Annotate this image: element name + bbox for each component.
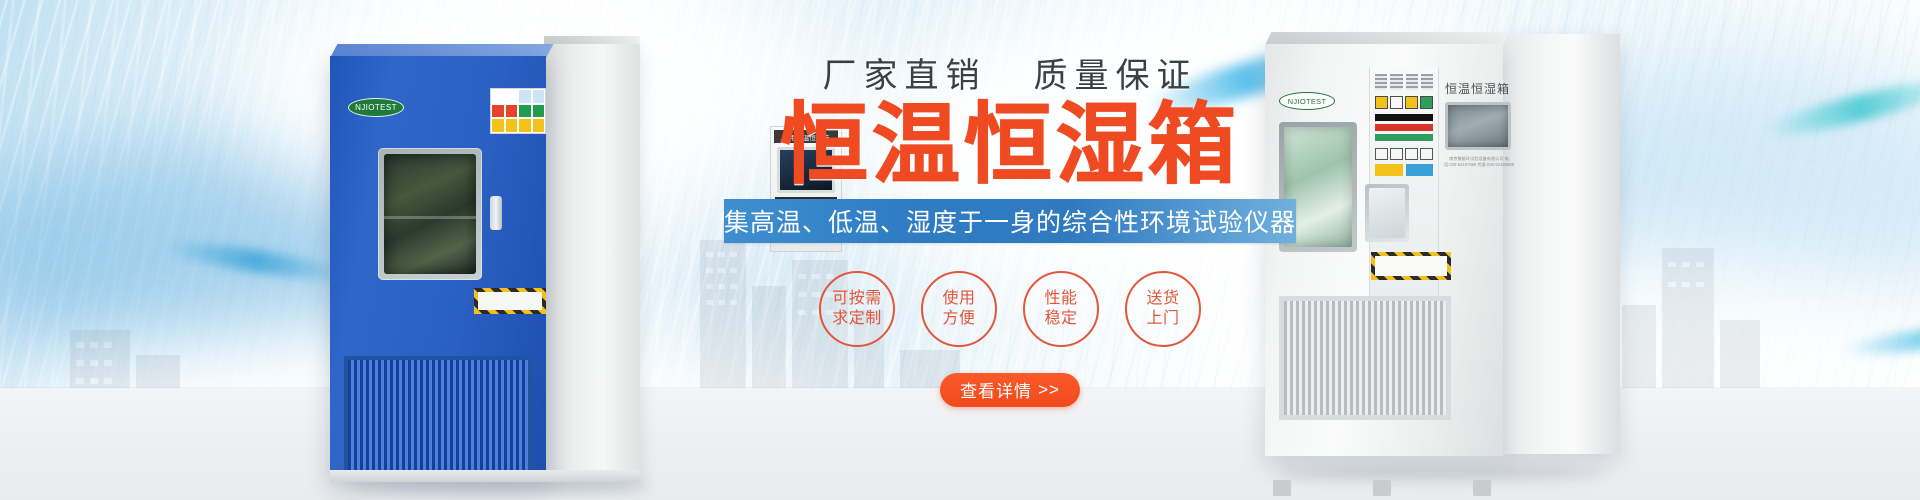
right-chamber-icon-label-row-1 (1370, 90, 1438, 109)
feature-badge-delivery-line2: 上门 (1146, 309, 1179, 329)
feature-badge-list: 可按需 求定制 使用 方便 性能 稳定 送货 上门 (700, 271, 1320, 347)
right-chamber-legs (1273, 480, 1503, 496)
view-details-button[interactable]: 查看详情 >> (940, 373, 1080, 407)
tagline-left-text: 厂家直销 (823, 57, 987, 95)
chevron-right-double-icon: >> (1038, 380, 1060, 400)
feature-badge-custom-line2: 求定制 (832, 309, 882, 329)
feature-badge-custom-line1: 可按需 (832, 289, 882, 309)
left-chamber-window-mullion (384, 216, 476, 219)
feature-badge-easy-use-line1: 使用 (942, 289, 975, 309)
right-chamber-shadow (1275, 466, 1605, 480)
left-chamber-side-panel: 医用恒温恒湿箱 南京聚能环试验设备有限公司 (544, 44, 640, 480)
left-chamber-viewing-window (378, 148, 482, 280)
right-chamber-caution-tag (1371, 252, 1451, 280)
right-chamber-footer-bars (1370, 160, 1438, 176)
feature-badge-easy-use[interactable]: 使用 方便 (921, 271, 997, 347)
product-image-left-chamber: 医用恒温恒湿箱 南京聚能环试验设备有限公司 NJIOTEST (330, 30, 640, 492)
right-chamber-company-footer: 南京聚能环试验设备有限公司 电话:025-52187666 传真:025-521… (1443, 156, 1515, 169)
feature-badge-easy-use-line2: 方便 (942, 309, 975, 329)
tagline-right-text: 质量保证 (1033, 57, 1197, 95)
subtitle-bar: 集高温、低温、湿度于一身的综合性环境试验仪器 (724, 199, 1296, 243)
right-chamber-vent-slots (1370, 68, 1438, 90)
left-chamber-warning-label-top (490, 88, 546, 134)
left-chamber-window-glass (384, 154, 476, 274)
left-chamber-door-handle (490, 196, 502, 230)
right-chamber-secondary-door (1365, 184, 1409, 242)
right-chamber-product-label: 恒温恒湿箱 (1445, 80, 1510, 97)
feature-badge-stable-line1: 性能 (1044, 289, 1077, 309)
page-title: 恒温恒湿箱 (700, 99, 1320, 191)
left-chamber-front-body: NJIOTEST (330, 56, 546, 480)
right-chamber-color-bars (1370, 109, 1438, 141)
left-chamber-caution-tag (474, 288, 546, 314)
left-chamber-brand-logo: NJIOTEST (348, 98, 404, 117)
feature-badge-stable[interactable]: 性能 稳定 (1023, 271, 1099, 347)
promo-copy-block: 厂家直销 质量保证 恒温恒湿箱 集高温、低温、湿度于一身的综合性环境试验仪器 可… (700, 48, 1320, 407)
feature-badge-custom[interactable]: 可按需 求定制 (819, 271, 895, 347)
feature-badge-delivery-line1: 送货 (1146, 289, 1179, 309)
promo-banner: 医用恒温恒湿箱 南京聚能环试验设备有限公司 NJIOTEST (0, 0, 1920, 500)
right-chamber-display-screen (1445, 102, 1511, 150)
left-chamber-base (330, 470, 640, 482)
tagline: 厂家直销 质量保证 (700, 48, 1320, 97)
view-details-label: 查看详情 (960, 377, 1032, 402)
left-chamber-vent-grille (344, 356, 532, 474)
feature-badge-delivery[interactable]: 送货 上门 (1125, 271, 1201, 347)
right-chamber-side-panel (1500, 34, 1620, 454)
feature-badge-stable-line2: 稳定 (1044, 309, 1077, 329)
right-chamber-icon-label-row-2 (1370, 144, 1438, 160)
